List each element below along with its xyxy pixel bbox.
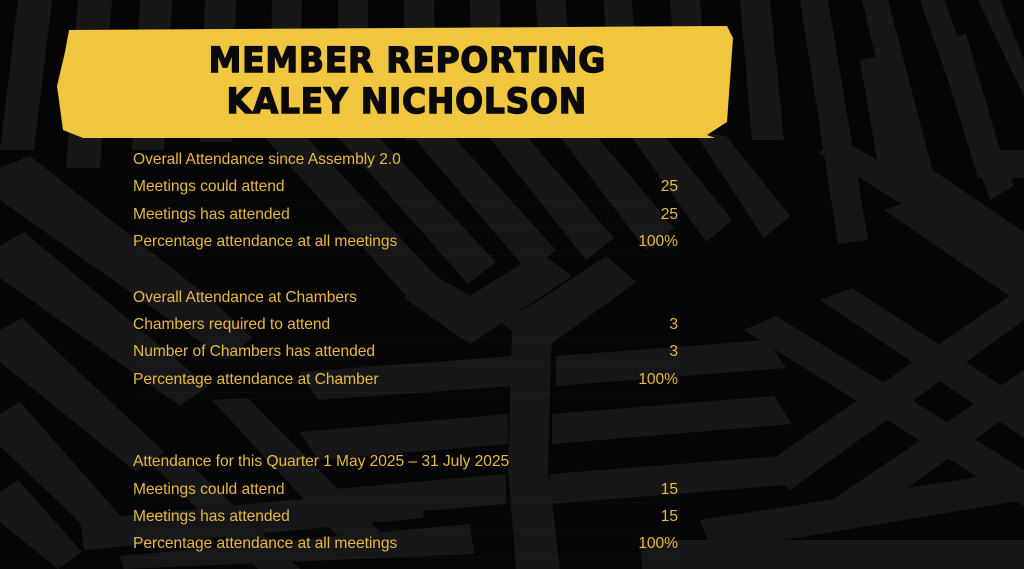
section-spacer xyxy=(133,393,678,448)
title-line-2: KALEY NICHOLSON xyxy=(227,82,588,122)
section-heading-row: Attendance for this Quarter 1 May 2025 –… xyxy=(133,448,678,475)
row-label: Chambers required to attend xyxy=(133,311,528,338)
section-heading-label: Overall Attendance since Assembly 2.0 xyxy=(133,146,528,173)
title-text-wrap: MEMBER REPORTING KALEY NICHOLSON xyxy=(55,22,735,140)
section-heading-label: Attendance for this Quarter 1 May 2025 –… xyxy=(133,448,528,475)
table-row: Percentage attendance at all meetings 10… xyxy=(133,228,678,255)
table-row: Meetings has attended 25 xyxy=(133,201,678,228)
row-value: 100% xyxy=(528,366,678,393)
row-label: Percentage attendance at Chamber xyxy=(133,366,528,393)
row-value: 25 xyxy=(528,201,678,228)
row-label: Meetings has attended xyxy=(133,503,528,530)
row-value: 25 xyxy=(528,173,678,200)
section-quarter-attendance: Attendance for this Quarter 1 May 2025 –… xyxy=(133,448,678,558)
title-banner: MEMBER REPORTING KALEY NICHOLSON xyxy=(55,22,735,140)
row-label: Meetings could attend xyxy=(133,173,528,200)
row-value: 15 xyxy=(528,476,678,503)
section-heading-row: Overall Attendance at Chambers xyxy=(133,284,678,311)
row-value: 3 xyxy=(528,311,678,338)
table-row: Meetings could attend 25 xyxy=(133,173,678,200)
row-label: Percentage attendance at all meetings xyxy=(133,530,528,557)
row-value: 100% xyxy=(528,530,678,557)
row-label: Meetings has attended xyxy=(133,201,528,228)
section-chambers-attendance: Overall Attendance at Chambers Chambers … xyxy=(133,284,678,394)
attendance-report-table: Overall Attendance since Assembly 2.0 Me… xyxy=(133,146,678,558)
row-value: 3 xyxy=(528,338,678,365)
section-heading-row: Overall Attendance since Assembly 2.0 xyxy=(133,146,678,173)
row-value: 15 xyxy=(528,503,678,530)
section-overall-attendance: Overall Attendance since Assembly 2.0 Me… xyxy=(133,146,678,256)
row-label: Meetings could attend xyxy=(133,476,528,503)
table-row: Chambers required to attend 3 xyxy=(133,311,678,338)
title-line-1: MEMBER REPORTING xyxy=(208,41,605,81)
table-row: Meetings has attended 15 xyxy=(133,503,678,530)
row-label: Percentage attendance at all meetings xyxy=(133,228,528,255)
section-heading-label: Overall Attendance at Chambers xyxy=(133,284,528,311)
slide-canvas: MEMBER REPORTING KALEY NICHOLSON Overall… xyxy=(0,0,1024,569)
table-row: Meetings could attend 15 xyxy=(133,476,678,503)
table-row: Percentage attendance at Chamber 100% xyxy=(133,366,678,393)
table-row: Number of Chambers has attended 3 xyxy=(133,338,678,365)
row-value: 100% xyxy=(528,228,678,255)
section-spacer xyxy=(133,256,678,284)
table-row: Percentage attendance at all meetings 10… xyxy=(133,530,678,557)
row-label: Number of Chambers has attended xyxy=(133,338,528,365)
